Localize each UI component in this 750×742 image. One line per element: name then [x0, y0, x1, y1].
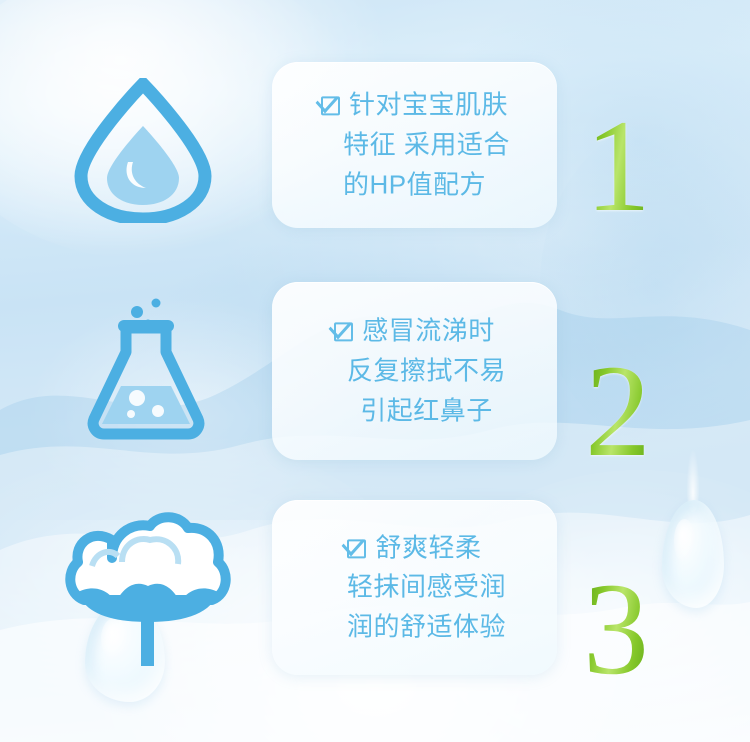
feature-card-3: 舒爽轻柔 轻抹间感受润 润的舒适体验 [272, 500, 557, 675]
water-droplet-decoration [662, 500, 724, 608]
feature-line: 特征 采用适合 [272, 125, 557, 165]
step-number-3: 3 [583, 563, 649, 695]
feature-line: 感冒流涕时 [272, 311, 557, 351]
feature-text-2: 感冒流涕时 反复擦拭不易 引起红鼻子 [272, 311, 557, 430]
feature-line: 针对宝宝肌肤 [272, 85, 557, 125]
feature-line: 轻抹间感受润 [272, 568, 557, 608]
feature-line-text: 感冒流涕时 [362, 315, 495, 345]
feature-line-text: 针对宝宝肌肤 [349, 89, 508, 119]
feature-card-1: 针对宝宝肌肤 特征 采用适合 的HP值配方 [272, 62, 557, 228]
feature-line: 舒爽轻柔 [272, 528, 557, 568]
checked-box-icon [347, 539, 366, 558]
feature-text-1: 针对宝宝肌肤 特征 采用适合 的HP值配方 [272, 85, 557, 204]
promo-banner: 针对宝宝肌肤 特征 采用适合 的HP值配方 1 感冒流涕时 反复擦拭不易 引起红… [0, 0, 750, 742]
checked-box-icon [334, 322, 353, 341]
step-number-1: 1 [585, 100, 651, 232]
water-drop-icon [73, 78, 213, 223]
feature-line-text: 舒爽轻柔 [375, 532, 481, 562]
step-number-2: 2 [585, 345, 651, 477]
feature-line: 引起红鼻子 [272, 391, 557, 431]
cotton-boll-icon [62, 510, 232, 670]
feature-line: 反复擦拭不易 [272, 351, 557, 391]
flask-icon [80, 290, 212, 445]
feature-text-3: 舒爽轻柔 轻抹间感受润 润的舒适体验 [272, 528, 557, 647]
checked-box-icon [321, 96, 340, 115]
feature-card-2: 感冒流涕时 反复擦拭不易 引起红鼻子 [272, 282, 557, 460]
feature-line: 的HP值配方 [272, 165, 557, 205]
feature-line: 润的舒适体验 [272, 607, 557, 647]
